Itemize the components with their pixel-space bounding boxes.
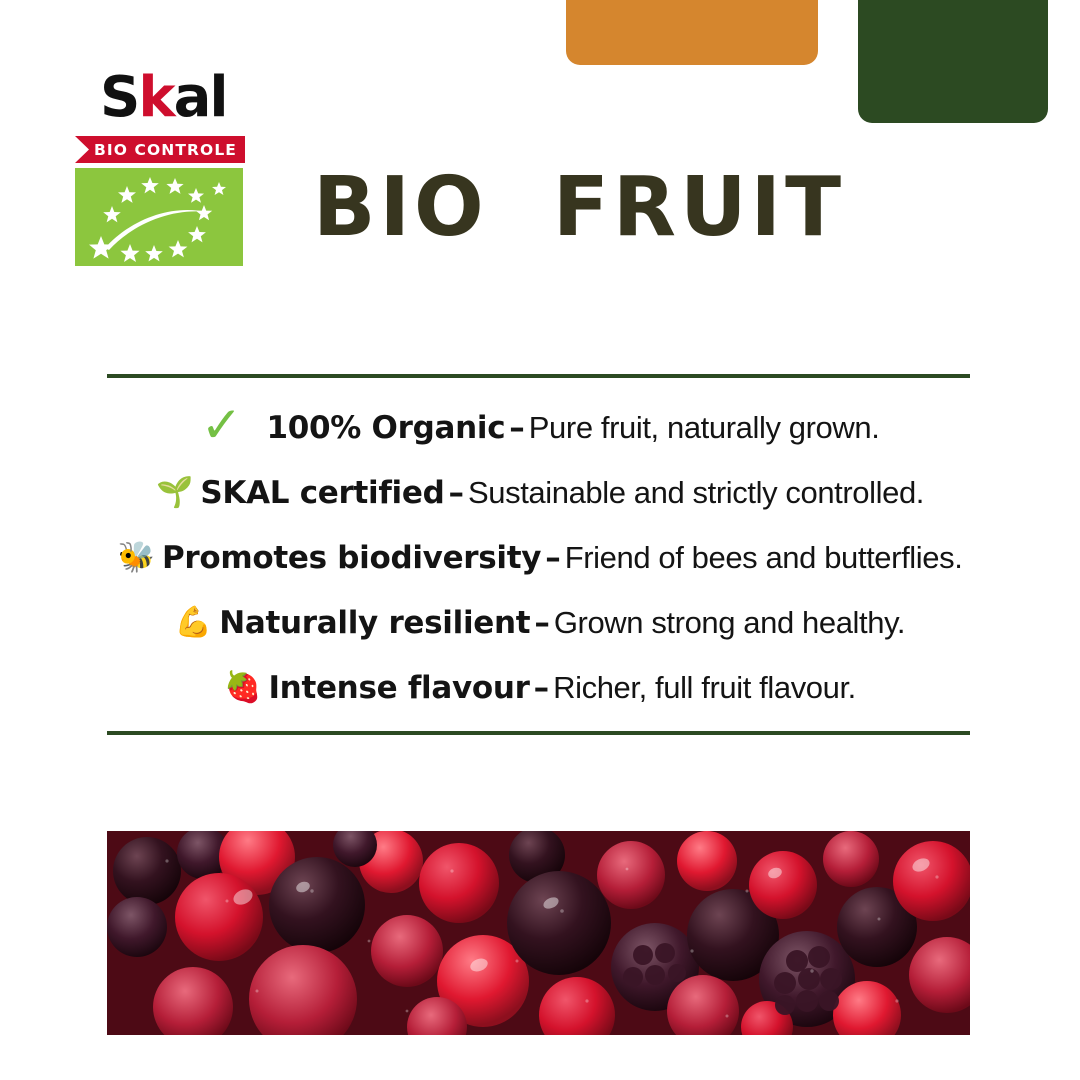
list-item-dash: – xyxy=(530,605,554,641)
seedling-icon: 🌱 xyxy=(156,478,193,508)
decorative-green-block xyxy=(858,0,1048,123)
skal-wordmark: Skal xyxy=(75,66,325,126)
berries-photo xyxy=(107,831,970,1035)
list-item-text: Pure fruit, naturally grown. xyxy=(529,410,880,446)
list-item: 🍓 Intense flavour – Richer, full fruit f… xyxy=(50,655,1030,720)
list-item-dash: – xyxy=(541,540,565,576)
benefits-list: ✓ 100% Organic – Pure fruit, naturally g… xyxy=(50,395,1030,720)
list-item-text: Friend of bees and butterflies. xyxy=(565,540,963,576)
list-item-strong: SKAL certified xyxy=(200,475,444,511)
list-item-strong: Intense flavour xyxy=(268,670,529,706)
strawberry-icon: 🍓 xyxy=(224,673,261,703)
list-item-text: Richer, full fruit flavour. xyxy=(553,670,856,706)
list-item-dash: – xyxy=(530,670,554,706)
divider-top xyxy=(107,374,970,378)
list-item-strong: 100% Organic xyxy=(266,410,505,446)
list-item-dash: – xyxy=(444,475,468,511)
skal-wordmark-s: S xyxy=(100,70,138,126)
skal-wordmark-al: al xyxy=(174,70,227,126)
list-item-text: Sustainable and strictly controlled. xyxy=(468,475,924,511)
skal-logo-block: Skal BIO CONTROLE xyxy=(75,66,325,266)
bio-controle-banner: BIO CONTROLE xyxy=(75,136,245,163)
green-checkmark-icon: ✓ xyxy=(201,400,243,450)
bio-controle-label: BIO CONTROLE xyxy=(94,141,237,159)
decorative-orange-block xyxy=(566,0,818,65)
flexed-biceps-icon: 💪 xyxy=(175,608,212,638)
list-item-strong: Promotes biodiversity xyxy=(162,540,541,576)
divider-bottom xyxy=(107,731,970,735)
list-item: ✓ 100% Organic – Pure fruit, naturally g… xyxy=(50,395,1030,460)
list-item-strong: Naturally resilient xyxy=(219,605,530,641)
honeybee-icon: 🐝 xyxy=(118,543,155,573)
list-item: 🐝 Promotes biodiversity – Friend of bees… xyxy=(50,525,1030,590)
skal-wordmark-k: k xyxy=(138,70,173,126)
page-title: BIO FRUIT xyxy=(313,162,845,254)
list-item: 🌱 SKAL certified – Sustainable and stric… xyxy=(50,460,1030,525)
list-item: 💪 Naturally resilient – Grown strong and… xyxy=(50,590,1030,655)
list-item-dash: – xyxy=(505,410,529,446)
eu-organic-leaf-logo xyxy=(75,168,243,266)
list-item-text: Grown strong and healthy. xyxy=(554,605,905,641)
